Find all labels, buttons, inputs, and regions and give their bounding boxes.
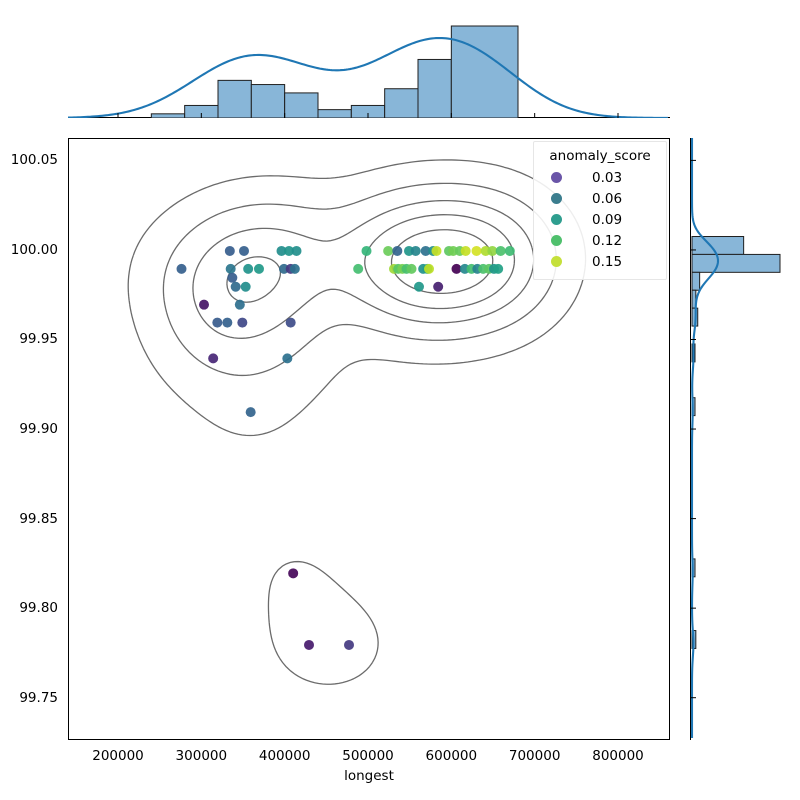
scatter-point bbox=[246, 407, 256, 417]
x-tick-label: 400000 bbox=[259, 748, 311, 764]
legend-entry-label: 0.12 bbox=[592, 233, 622, 249]
scatter-point bbox=[344, 640, 354, 650]
marginal-x-bar bbox=[218, 80, 251, 118]
scatter-point bbox=[461, 246, 471, 256]
legend-entry[interactable]: 0.06 bbox=[542, 188, 658, 209]
scatter-point bbox=[433, 282, 443, 292]
marginal-x-plot bbox=[68, 10, 670, 118]
marginal-x-bar bbox=[451, 26, 518, 118]
marginal-x-axes bbox=[68, 10, 670, 118]
legend-entry[interactable]: 0.12 bbox=[542, 230, 658, 251]
legend[interactable]: anomaly_score 0.030.060.090.120.15 bbox=[533, 141, 667, 280]
scatter-point bbox=[239, 246, 249, 256]
scatter-point bbox=[177, 264, 187, 274]
scatter-point bbox=[212, 318, 222, 328]
legend-title: anomaly_score bbox=[542, 148, 658, 164]
y-tick-label: 99.75 bbox=[0, 690, 58, 706]
y-tick-label: 100.00 bbox=[0, 242, 58, 258]
joint-plot-figure: 99.7599.8099.8599.9099.95100.00100.05 20… bbox=[0, 0, 800, 800]
scatter-point bbox=[288, 568, 298, 578]
legend-entry[interactable]: 0.15 bbox=[542, 251, 658, 272]
marginal-x-bar bbox=[418, 59, 451, 118]
legend-entry-label: 0.03 bbox=[592, 170, 622, 186]
scatter-point bbox=[225, 246, 235, 256]
legend-entry-label: 0.06 bbox=[592, 191, 622, 207]
legend-entries: 0.030.060.090.120.15 bbox=[542, 167, 658, 272]
scatter-point bbox=[472, 246, 482, 256]
y-tick-label: 99.95 bbox=[0, 331, 58, 347]
scatter-point bbox=[496, 246, 506, 256]
scatter-point bbox=[231, 282, 241, 292]
marginal-y-bar bbox=[692, 272, 700, 290]
scatter-point bbox=[424, 264, 434, 274]
kde-contour-level-0 bbox=[128, 160, 585, 684]
scatter-point bbox=[208, 353, 218, 363]
scatter-point bbox=[411, 246, 421, 256]
scatter-point bbox=[243, 264, 253, 274]
legend-entry-label: 0.15 bbox=[592, 254, 622, 270]
scatter-point bbox=[362, 246, 372, 256]
marginal-x-bar bbox=[318, 110, 351, 118]
scatter-point bbox=[237, 318, 247, 328]
scatter-point bbox=[383, 246, 393, 256]
y-tick-label: 99.80 bbox=[0, 600, 58, 616]
marginal-y-bar bbox=[692, 254, 780, 272]
marginal-x-bar bbox=[385, 89, 418, 118]
scatter-point bbox=[407, 264, 417, 274]
x-tick-label: 300000 bbox=[176, 748, 228, 764]
scatter-point bbox=[493, 264, 503, 274]
x-tick-label: 800000 bbox=[592, 748, 644, 764]
scatter-point bbox=[227, 273, 237, 283]
x-tick-label: 700000 bbox=[509, 748, 561, 764]
marginal-x-bar bbox=[251, 85, 284, 118]
legend-swatch-icon bbox=[551, 256, 562, 267]
y-tick-label: 100.05 bbox=[0, 152, 58, 168]
scatter-point bbox=[353, 264, 363, 274]
kde-contour-level-1 bbox=[163, 183, 556, 375]
marginal-x-bar bbox=[151, 114, 184, 118]
scatter-point bbox=[432, 246, 442, 256]
x-axis-title: longest bbox=[344, 768, 394, 784]
scatter-point bbox=[392, 246, 402, 256]
legend-swatch-icon bbox=[551, 214, 562, 225]
scatter-point bbox=[290, 264, 300, 274]
scatter-point bbox=[226, 264, 236, 274]
scatter-point bbox=[414, 282, 424, 292]
marginal-y-axes bbox=[690, 138, 790, 740]
x-tick-label: 600000 bbox=[426, 748, 478, 764]
scatter-point bbox=[199, 300, 209, 310]
x-tick-label: 200000 bbox=[92, 748, 144, 764]
scatter-point bbox=[254, 264, 264, 274]
legend-entry-label: 0.09 bbox=[592, 212, 622, 228]
scatter-point bbox=[222, 318, 232, 328]
legend-swatch-icon bbox=[551, 172, 562, 183]
legend-swatch-icon bbox=[551, 235, 562, 246]
scatter-point bbox=[235, 300, 245, 310]
y-tick-label: 99.85 bbox=[0, 511, 58, 527]
marginal-x-bar bbox=[285, 93, 318, 118]
legend-entry[interactable]: 0.03 bbox=[542, 167, 658, 188]
scatter-point bbox=[282, 353, 292, 363]
y-tick-label: 99.90 bbox=[0, 421, 58, 437]
marginal-y-bar bbox=[692, 237, 744, 255]
scatter-point bbox=[304, 640, 314, 650]
scatter-point bbox=[241, 282, 251, 292]
scatter-point bbox=[292, 246, 302, 256]
scatter-point bbox=[286, 318, 296, 328]
legend-swatch-icon bbox=[551, 193, 562, 204]
marginal-y-plot bbox=[691, 138, 791, 740]
x-tick-label: 500000 bbox=[342, 748, 394, 764]
legend-entry[interactable]: 0.09 bbox=[542, 209, 658, 230]
scatter-point bbox=[505, 246, 515, 256]
